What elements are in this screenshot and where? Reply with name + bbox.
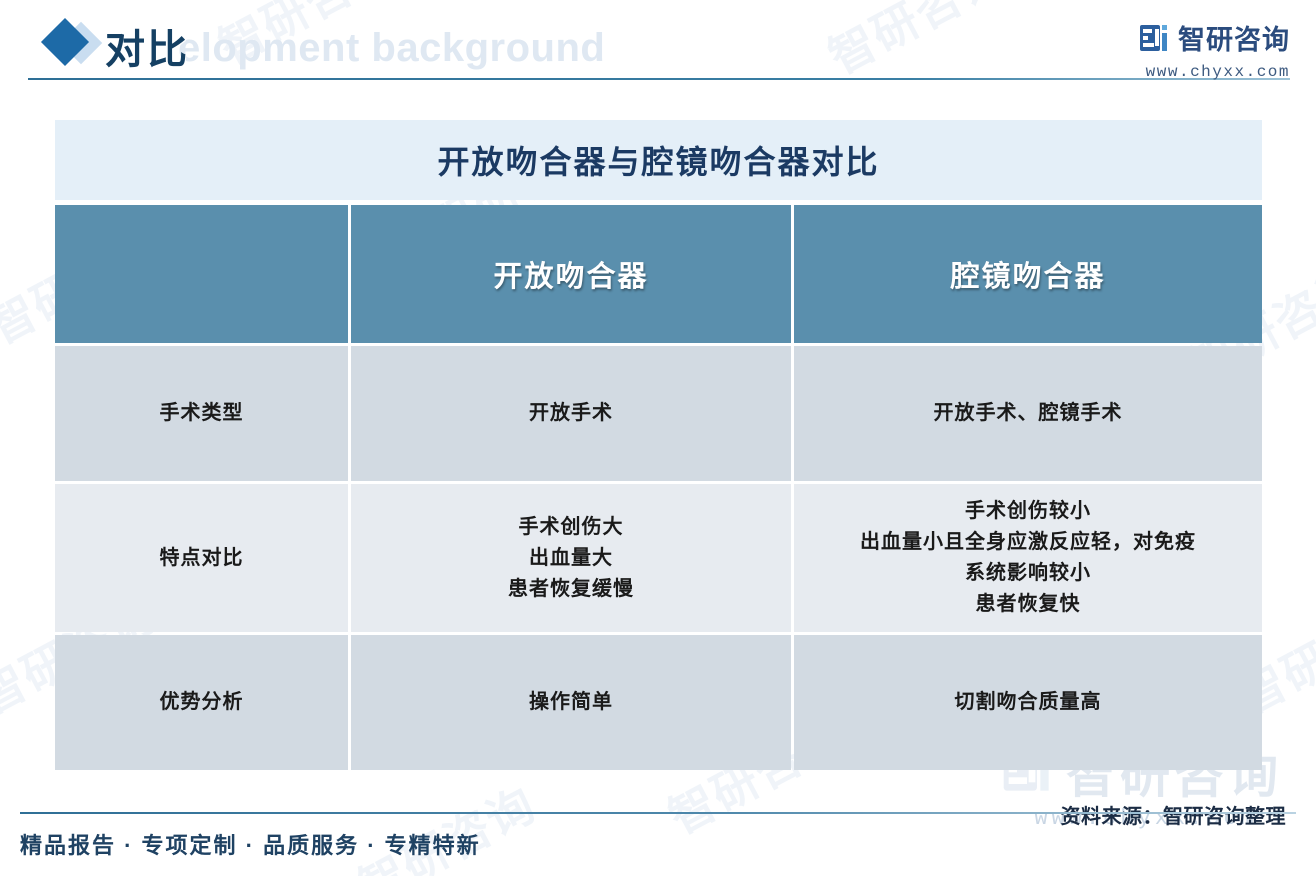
cell-line: 开放手术 [529,398,613,429]
cell-line: 出血量小且全身应激反应轻，对免疫 [860,527,1196,558]
table-row: 特点对比 手术创伤大 出血量大 患者恢复缓慢 手术创伤较小 出血量小且全身应激反… [55,484,1262,632]
table-header-cell-blank [55,205,348,343]
header-ghost-text: elopment background [178,26,605,71]
table-title: 开放吻合器与腔镜吻合器对比 [55,120,1262,200]
page-title: 对比 [105,17,189,75]
source-note: 资料来源：智研咨询整理 [1061,800,1287,829]
cell-line: 手术创伤大 [508,512,634,543]
row-label: 优势分析 [55,635,348,770]
row-value-endo: 手术创伤较小 出血量小且全身应激反应轻，对免疫 系统影响较小 患者恢复快 [794,484,1262,632]
table-row: 手术类型 开放手术 开放手术、腔镜手术 [55,346,1262,481]
brand-url[interactable]: www.chyxx.com [1139,63,1290,81]
table-header-row: 开放吻合器 腔镜吻合器 [55,205,1262,343]
cell-line: 操作简单 [529,687,613,718]
row-value-open: 手术创伤大 出血量大 患者恢复缓慢 [351,484,791,632]
cell-line: 系统影响较小 [860,558,1196,589]
table-row: 优势分析 操作简单 切割吻合质量高 [55,635,1262,770]
footer-slogan: 精品报告 · 专项定制 · 品质服务 · 专精特新 [20,828,481,860]
cell-line: 手术创伤较小 [860,496,1196,527]
cell-line: 出血量大 [508,543,634,574]
comparison-table: 开放吻合器与腔镜吻合器对比 开放吻合器 腔镜吻合器 手术类型 开放手术 开放手术… [55,120,1262,770]
cell-line: 患者恢复缓慢 [508,574,634,605]
row-label: 特点对比 [55,484,348,632]
cell-line: 开放手术、腔镜手术 [934,398,1123,429]
row-value-open: 操作简单 [351,635,791,770]
table-header-cell-endo: 腔镜吻合器 [794,205,1262,343]
cell-line: 切割吻合质量高 [955,687,1102,718]
brand-name: 智研咨询 [1178,18,1290,57]
row-value-open: 开放手术 [351,346,791,481]
chyxx-logo-icon [1139,23,1169,53]
row-value-endo: 开放手术、腔镜手术 [794,346,1262,481]
footer-divider [20,812,1296,814]
cell-line: 患者恢复快 [860,589,1196,620]
row-value-endo: 切割吻合质量高 [794,635,1262,770]
brand-logo[interactable]: 智研咨询 www.chyxx.com [1139,18,1290,81]
table-header-cell-open: 开放吻合器 [351,205,791,343]
page-header: elopment background 对比 [0,0,1316,90]
row-label: 手术类型 [55,346,348,481]
header-divider [28,78,1290,80]
